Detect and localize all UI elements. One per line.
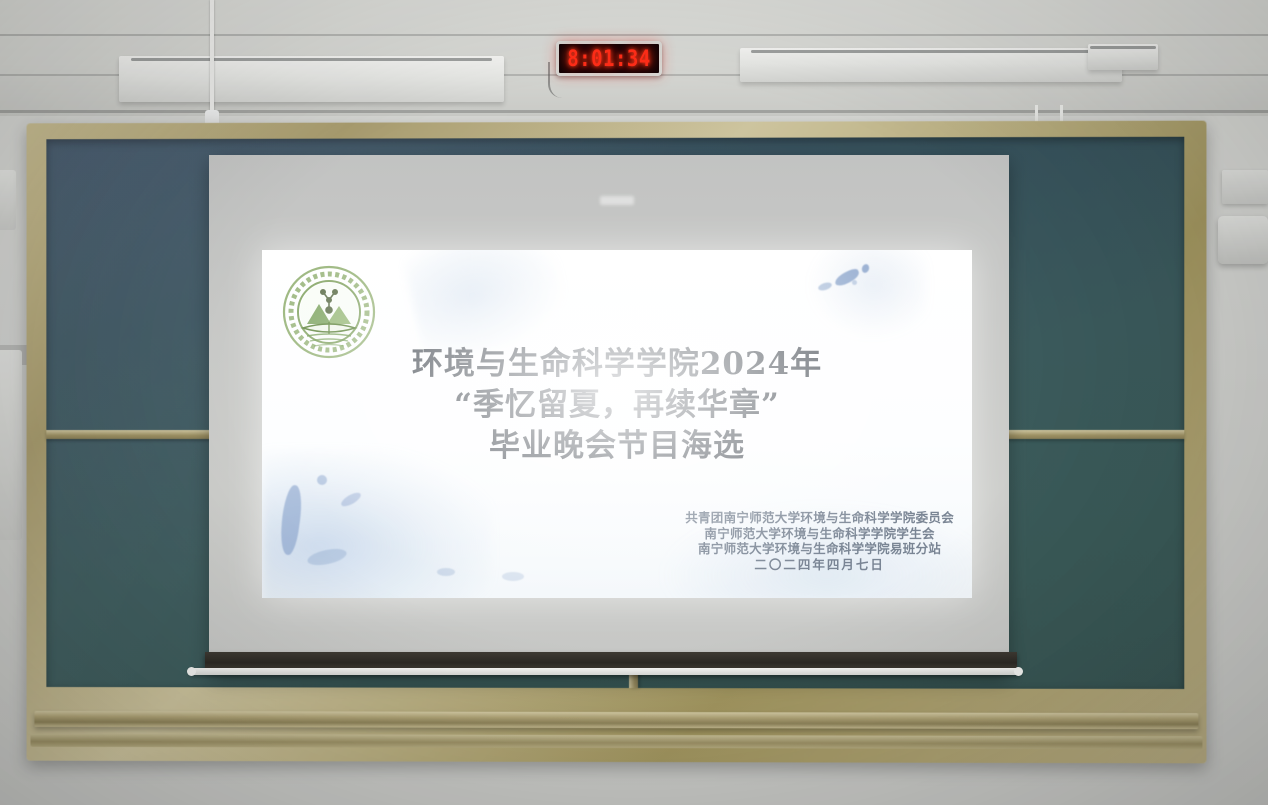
ceiling-light-fixture [1088,44,1158,70]
camera-mount-bracket [1222,170,1268,204]
ink-splash [852,280,857,285]
wall-fixture-panel [0,350,22,540]
projected-slide: 环境与生命科学学院2024年 “季忆留夏，再续华章” 毕业晚会节目海选 共青团南… [262,250,972,598]
slide-title: 环境与生命科学学院2024年 “季忆留夏，再续华章” 毕业晚会节目海选 [262,344,972,467]
ceiling-light-fixture [740,48,1122,82]
ink-splash [306,546,348,568]
ink-splash [339,490,363,509]
chalk-ledge-lower [31,734,1203,750]
ceiling-seam-line [0,34,1268,36]
ink-splash [833,267,861,288]
ink-splash [502,572,524,581]
slide-footer: 共青团南宁师范大学环境与生命科学学院委员会 南宁师范大学环境与生命科学学院学生会… [685,510,954,572]
slide-title-line-2: “季忆留夏，再续华章” [262,385,972,426]
ceiling-light-fixture [119,56,504,102]
ink-splash [861,263,871,274]
wall-fixture-plate [0,170,16,230]
screen-top-marking [600,196,634,205]
slide-title-line-1: 环境与生命科学学院2024年 [262,344,972,385]
led-clock: 8:01:34 [556,41,662,76]
ink-splash [817,281,832,292]
slide-footer-line-2: 南宁师范大学环境与生命科学学院学生会 [685,526,954,542]
ceiling-seam-line [0,110,1268,113]
ink-splash [317,475,327,485]
screen-weight-rod [189,668,1021,675]
slide-footer-line-3: 南宁师范大学环境与生命科学学院易班分站 [685,541,954,557]
ink-splash [437,568,455,576]
clock-time-display: 8:01:34 [567,46,651,71]
ink-wash-decoration [262,450,492,598]
chalk-ledge [34,711,1198,729]
ink-wash-decoration [807,250,927,340]
classroom-photo-scene: 8:01:34 [0,0,1268,805]
ink-splash [277,484,305,556]
slide-footer-line-1: 共青团南宁师范大学环境与生命科学学院委员会 [685,510,954,526]
slide-title-line-3: 毕业晚会节目海选 [262,426,972,467]
slide-footer-date: 二〇二四年四月七日 [685,557,954,573]
wall-camera [1218,216,1268,264]
